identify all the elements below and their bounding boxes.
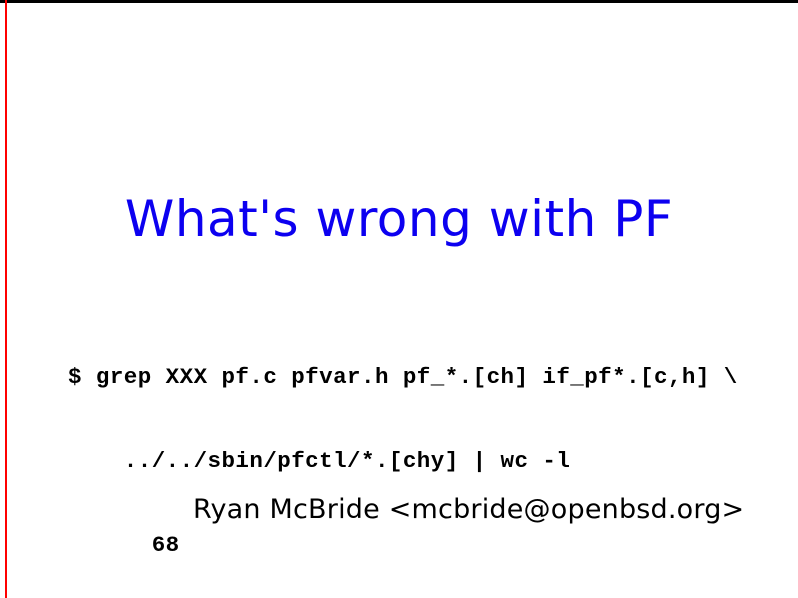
slide-canvas: What's wrong with PF $ grep XXX pf.c pfv… [0, 0, 798, 598]
author-byline: Ryan McBride <mcbride@openbsd.org> [193, 494, 744, 525]
left-accent-rule [5, 0, 7, 598]
terminal-output-block: $ grep XXX pf.c pfvar.h pf_*.[ch] if_pf*… [68, 307, 738, 598]
top-border-rule [0, 0, 798, 3]
page-title: What's wrong with PF [0, 192, 798, 247]
terminal-line-command-continuation: ../../sbin/pfctl/*.[chy] | wc -l [68, 447, 738, 475]
terminal-line-command: $ grep XXX pf.c pfvar.h pf_*.[ch] if_pf*… [68, 363, 738, 391]
terminal-line-result-count: 68 [68, 531, 738, 559]
